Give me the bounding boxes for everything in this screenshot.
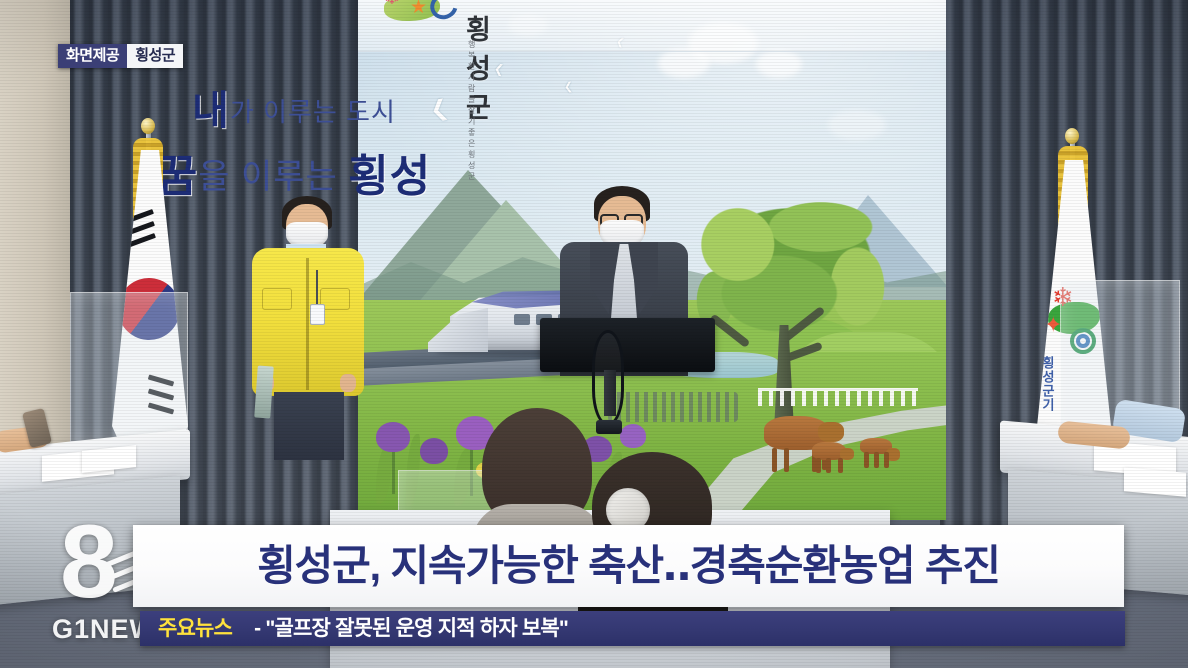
cloud-icon: [658, 48, 710, 78]
lower-third-headline-bar: 횡성군, 지속가능한 축산‥경축순환농업 추진: [133, 525, 1124, 607]
headline-text: 횡성군, 지속가능한 축산‥경축순환농업 추진: [257, 545, 1000, 587]
cow-icon: [810, 440, 854, 474]
audience-member: [482, 408, 592, 538]
flag-finial-left: [141, 118, 155, 134]
cloud-icon: [756, 50, 802, 78]
acrylic-shield-left: [70, 292, 188, 442]
source-badge-label: 화면제공: [58, 44, 127, 68]
bird-icon: ❮: [493, 62, 505, 75]
slogan-mid-2: 을 이루는: [198, 158, 348, 196]
slogan-accent-1: 내: [192, 89, 230, 133]
cloud-icon: [828, 110, 886, 140]
microphone-icon: [592, 330, 624, 426]
ticker-text: - "골프장 잘못된 운영 지적 하자 보복": [254, 618, 568, 639]
slogan-accent-3: 횡성: [348, 152, 431, 201]
microphone-base: [596, 420, 622, 434]
news-ticker-bar: 주요뉴스 - "골프장 잘못된 운영 지적 하자 보복": [140, 611, 1125, 646]
broadcast-screenshot: ❮ ❮ ❮ ❮: [0, 0, 1188, 668]
flag-finial-right: [1065, 128, 1079, 144]
slogan-line-1: 내가 이루는 도시: [0, 78, 588, 136]
official-yellow-jacket: [248, 196, 368, 456]
ticker-label: 주요뉴스: [158, 618, 232, 639]
fence-shape: [758, 388, 918, 406]
slogan-rest-1: 가 이루는 도시: [230, 97, 396, 127]
source-badge-provider: 횡성군: [127, 44, 183, 68]
cow-icon: [858, 436, 906, 470]
source-badge: 화면제공 횡성군: [58, 44, 183, 68]
county-emblem-icon: ❄ ★: [380, 0, 460, 23]
slogan-line-2: 꿈을 이루는 횡성: [0, 140, 588, 204]
podium: [540, 318, 715, 372]
backdrop-slogan: 내가 이루는 도시 꿈을 이루는 횡성: [0, 78, 588, 204]
